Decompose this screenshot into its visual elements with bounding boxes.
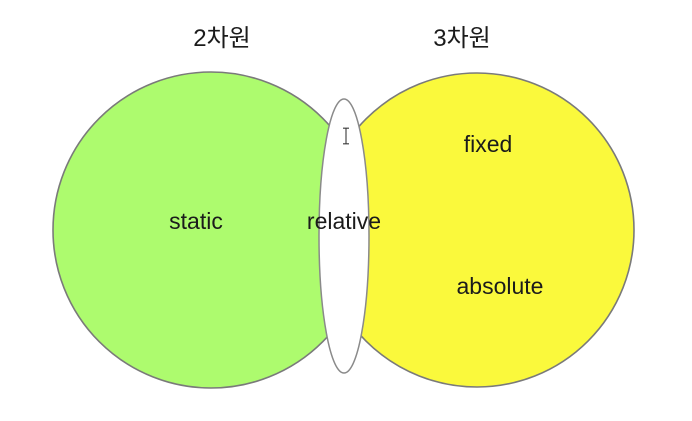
text-caret-icon [341, 127, 351, 145]
venn-diagram-canvas: 2차원 3차원 static relative fixed absolute [0, 0, 692, 421]
label-fixed: fixed [428, 131, 548, 158]
label-static: static [116, 208, 276, 235]
label-relative: relative [274, 208, 414, 235]
set-header-right: 3차원 [402, 18, 522, 53]
set-header-left: 2차원 [162, 18, 282, 53]
label-absolute: absolute [420, 273, 580, 300]
